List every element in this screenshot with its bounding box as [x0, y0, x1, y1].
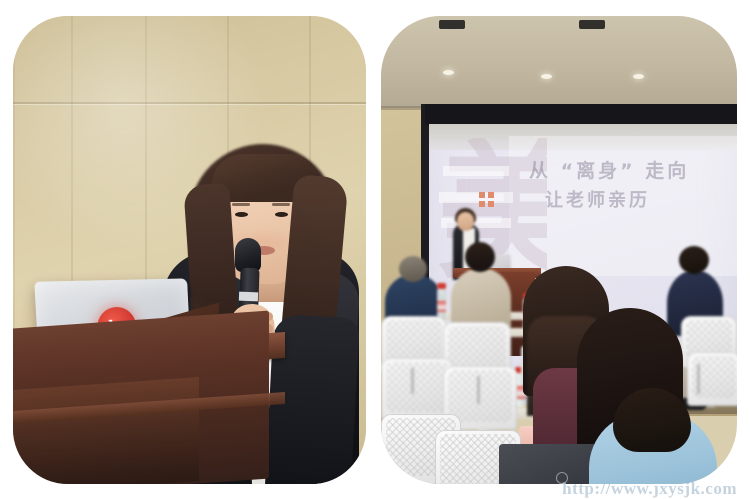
- presenter-head: [457, 212, 474, 231]
- microphone-head-icon: [235, 238, 261, 272]
- speaker-eye-right: [275, 212, 288, 217]
- microphone-band: [239, 292, 258, 302]
- ceiling-speaker-icon: [439, 20, 465, 29]
- slide-headline-line-1: 从 “离身” 走向: [529, 156, 689, 183]
- chair-leg: [697, 364, 700, 394]
- slide-headline-line-2: 让老师亲历: [545, 186, 650, 212]
- downlight-icon: [633, 74, 644, 79]
- slide-watermark-mask: [443, 166, 509, 176]
- slide-watermark-mask: [439, 192, 513, 203]
- watermark-url: http://www.jxysjk.com: [562, 480, 737, 497]
- ceiling: [381, 16, 737, 108]
- photo-gallery: hp 美: [0, 0, 750, 499]
- ceiling-speaker-icon: [579, 20, 605, 29]
- audience-member: [451, 268, 511, 328]
- audience-member-head: [679, 246, 709, 274]
- photo-right[interactable]: 美 从 “离身” 走向 让老师亲历: [381, 16, 737, 484]
- audience-member-head: [465, 242, 495, 272]
- speaker-eyebrow-right: [272, 203, 290, 206]
- downlight-icon: [443, 70, 454, 75]
- speaker-eyebrow-left: [232, 203, 250, 206]
- projection-screen-header-bar: [425, 104, 737, 126]
- speaker-eye-left: [235, 212, 248, 217]
- chair-leg: [477, 376, 480, 404]
- photo-left[interactable]: hp: [13, 16, 366, 484]
- audience-chair: [687, 352, 737, 406]
- lectern-front-panel: [13, 377, 199, 484]
- chair-leg: [411, 368, 414, 394]
- audience-member-head: [399, 256, 427, 282]
- slide-logo-icon: [479, 192, 494, 207]
- downlight-icon: [541, 74, 552, 79]
